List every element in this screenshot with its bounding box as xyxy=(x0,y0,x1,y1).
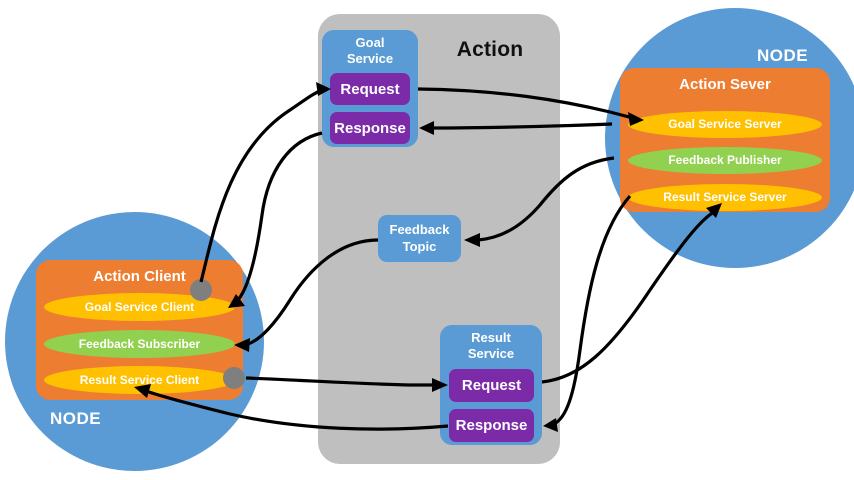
arrow-feedback-publisher-to-topic xyxy=(464,158,614,247)
arrow-result-response-to-client xyxy=(134,384,448,429)
arrow-goal-client-to-request xyxy=(201,82,331,282)
arrow-result-server-to-response xyxy=(543,196,630,432)
arrow-goal-server-to-response xyxy=(419,121,612,135)
connection-arrows xyxy=(0,0,854,480)
diagram-canvas: Action Action Client Goal Service Client… xyxy=(0,0,854,480)
arrow-result-request-to-server xyxy=(542,203,722,382)
arrow-result-client-to-request xyxy=(246,378,448,392)
arrow-request-to-goal-server xyxy=(418,89,644,126)
